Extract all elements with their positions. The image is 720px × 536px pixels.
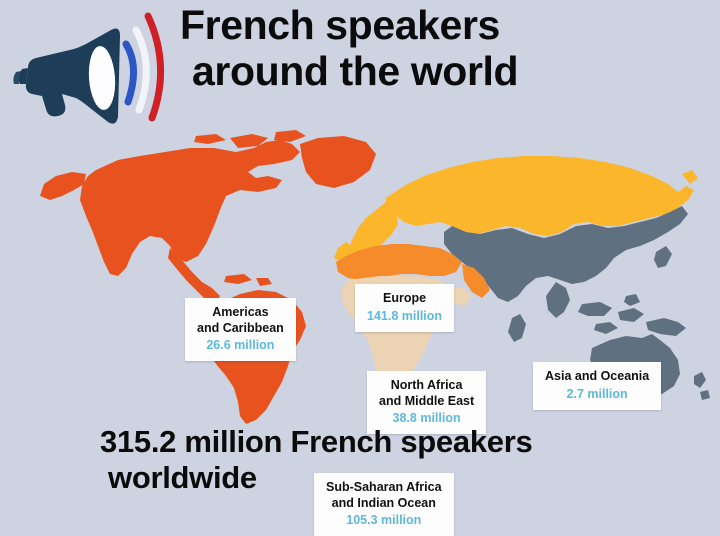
world-map: Americas and Caribbean 26.6 million Euro… [0, 126, 720, 426]
map-region-americas [40, 130, 376, 424]
header: French speakers around the world [0, 0, 720, 128]
callout-value: 2.7 million [545, 386, 649, 402]
callout-region-line-2: and Caribbean [197, 321, 284, 337]
total-summary: 315.2 million French speakers worldwide [0, 424, 720, 518]
title-line-2: around the world [176, 48, 716, 94]
title-line-1: French speakers [176, 2, 716, 48]
callout-region-line-1: Americas [197, 305, 284, 321]
infographic-root: French speakers around the world [0, 0, 720, 518]
callout-americas-and-caribbean: Americas and Caribbean 26.6 million [185, 298, 296, 361]
megaphone-icon [8, 6, 178, 128]
total-line-2: worldwide [0, 460, 720, 496]
callout-region-line-1: North Africa [379, 378, 474, 394]
callout-asia-and-oceania: Asia and Oceania 2.7 million [533, 362, 661, 410]
callout-value: 141.8 million [367, 308, 442, 324]
callout-region-line-2: and Middle East [379, 394, 474, 410]
total-line-1: 315.2 million French speakers [0, 424, 720, 460]
page-title: French speakers around the world [176, 2, 716, 95]
callout-value: 26.6 million [197, 337, 284, 353]
callout-region-line-1: Asia and Oceania [545, 369, 649, 385]
callout-europe: Europe 141.8 million [355, 284, 454, 332]
callout-region-line-1: Europe [367, 291, 442, 307]
